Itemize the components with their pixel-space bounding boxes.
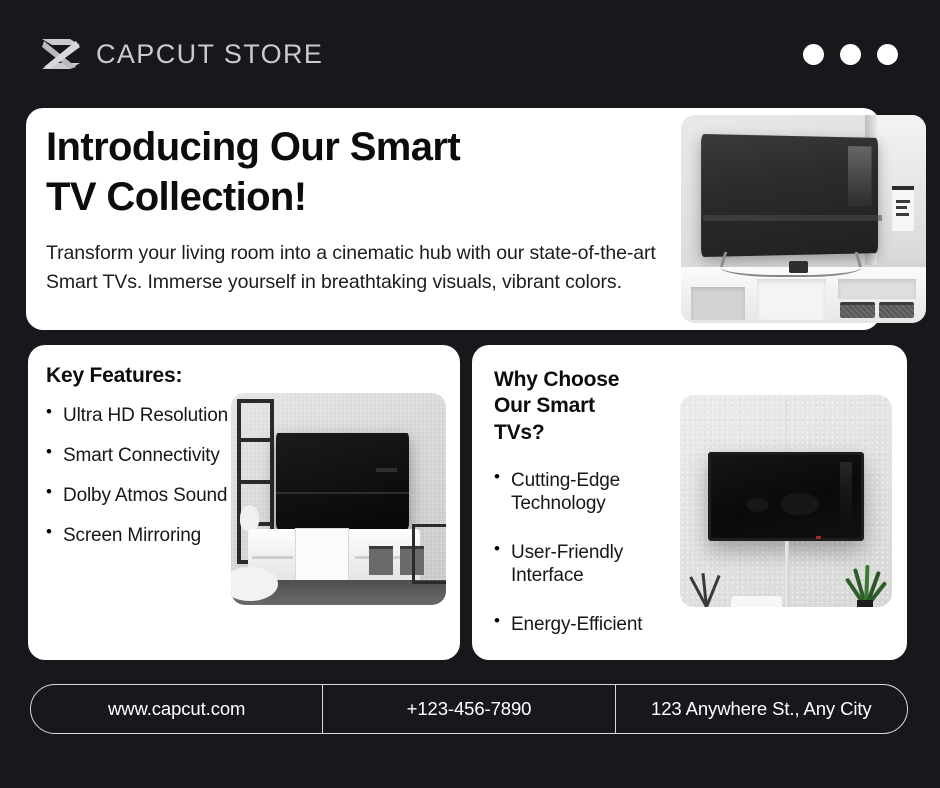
footer-bar: www.capcut.com +123-456-7890 123 Anywher… (30, 684, 908, 734)
window-dot-2[interactable] (840, 44, 861, 65)
side-rack (412, 524, 446, 583)
hero-image-scene (681, 115, 926, 323)
footer-phone[interactable]: +123-456-7890 (322, 685, 614, 733)
tv-screen (276, 433, 409, 528)
key-features-list: Ultra HD Resolution Smart Connectivity D… (46, 405, 241, 547)
why-choose-image (680, 395, 892, 607)
hero-body-text: Transform your living room into a cinema… (46, 239, 666, 298)
why-choose-text-block: Why Choose Our Smart TVs? Cutting-Edge T… (494, 367, 674, 662)
key-features-card: Key Features: Ultra HD Resolution Smart … (28, 345, 460, 660)
console-top (731, 596, 782, 607)
list-item: Smart Connectivity (46, 445, 241, 468)
footer-website[interactable]: www.capcut.com (31, 685, 322, 733)
list-item: User-Friendly Interface (494, 542, 674, 588)
console-cubby-right (838, 279, 916, 299)
dried-branch-decor (688, 573, 722, 607)
console-shelf-left (252, 556, 293, 559)
window-dot-1[interactable] (803, 44, 824, 65)
tv-power-led (816, 536, 821, 539)
window-dots[interactable] (803, 44, 898, 65)
hero-text-block: Introducing Our Smart TV Collection! Tra… (46, 122, 666, 298)
console-drawer (757, 279, 826, 319)
why-choose-heading-line-1: Why Choose (494, 368, 619, 391)
brand-lockup[interactable]: CAPCUT STORE (40, 37, 323, 71)
hero-title-line-2: TV Collection! (46, 175, 307, 219)
key-features-image (231, 393, 446, 605)
storage-basket-2 (879, 302, 913, 319)
tv-screen (701, 134, 878, 257)
list-item: Screen Mirroring (46, 525, 241, 548)
footer-address[interactable]: 123 Anywhere St., Any City (615, 685, 907, 733)
key-features-text-block: Key Features: Ultra HD Resolution Smart … (46, 363, 241, 565)
hero-title: Introducing Our Smart TV Collection! (46, 122, 666, 223)
list-item: Ultra HD Resolution (46, 405, 241, 428)
potted-plant (841, 565, 888, 607)
tv-screen (708, 452, 865, 541)
set-top-box (789, 261, 809, 273)
list-item: Cutting-Edge Technology (494, 470, 674, 516)
why-choose-heading-line-3: TVs? (494, 421, 545, 444)
storage-basket-1 (840, 302, 874, 319)
hero-image (681, 115, 926, 323)
decor-vase (240, 505, 259, 530)
hero-card: Introducing Our Smart TV Collection! Tra… (26, 108, 880, 330)
capcut-logo-icon (40, 37, 82, 71)
cable-cover (785, 541, 788, 607)
list-item: Dolby Atmos Sound (46, 485, 241, 508)
why-choose-heading: Why Choose Our Smart TVs? (494, 367, 674, 446)
hero-title-line-1: Introducing Our Smart (46, 125, 460, 169)
wall-poster (892, 186, 914, 232)
tv-reflection-band (703, 215, 882, 221)
brand-name: CAPCUT STORE (96, 39, 323, 70)
console-cubby-left (691, 287, 745, 320)
why-choose-card: Why Choose Our Smart TVs? Cutting-Edge T… (472, 345, 907, 660)
why-choose-list: Cutting-Edge Technology User-Friendly In… (494, 470, 674, 636)
page-header: CAPCUT STORE (0, 0, 940, 108)
list-item: Energy-Efficient (494, 614, 674, 637)
window-dot-3[interactable] (877, 44, 898, 65)
why-choose-heading-line-2: Our Smart (494, 394, 595, 417)
plant-pot (857, 600, 873, 607)
key-features-heading: Key Features: (46, 363, 241, 389)
why-choose-image-scene (680, 395, 892, 607)
console-drawer (296, 529, 348, 582)
key-features-image-scene (231, 393, 446, 605)
